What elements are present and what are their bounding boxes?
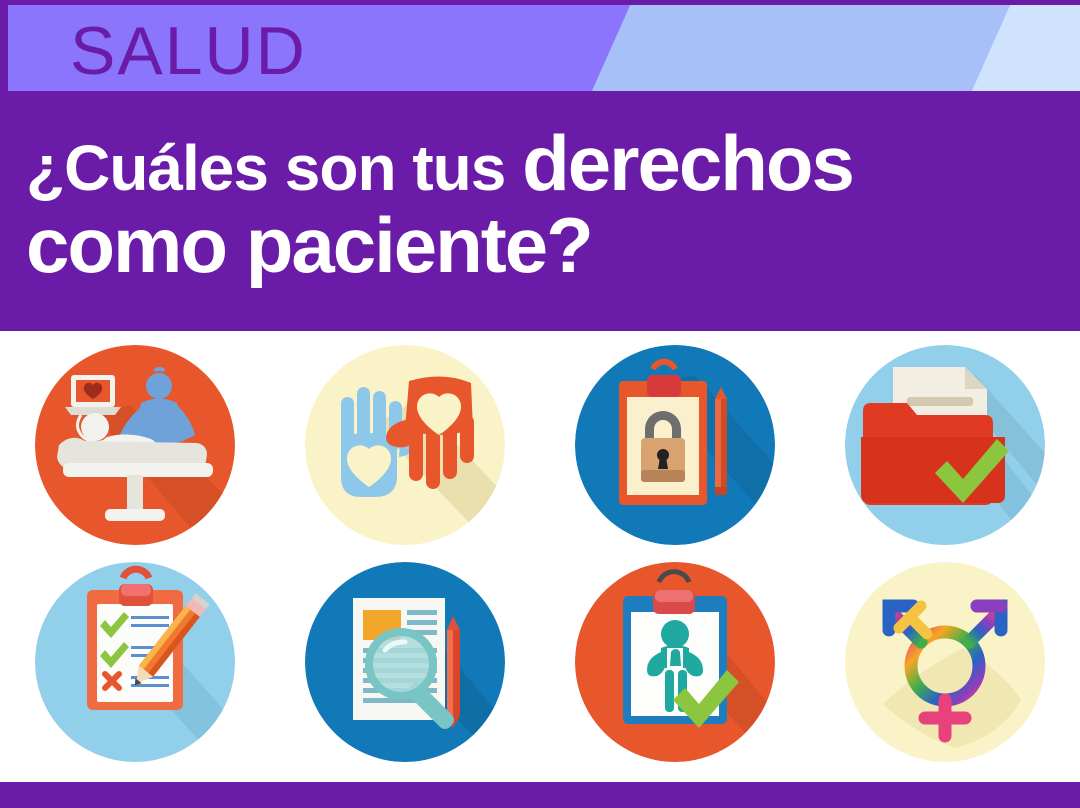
headline-line-2: como paciente? [26, 208, 1062, 284]
icon-cell-4 [810, 336, 1080, 553]
headline-line-1-plain: ¿Cuáles son tus [26, 132, 522, 204]
health-rights-infographic: SALUD ¿Cuáles son tus derechos como paci… [0, 0, 1080, 808]
kicker-banner: SALUD [0, 0, 1080, 96]
icon-cell-8 [810, 553, 1080, 770]
checklist-clipboard-pencil-icon [35, 562, 235, 762]
headline-line-1: ¿Cuáles son tus derechos [26, 126, 1062, 202]
patient-care-icon [35, 345, 235, 545]
headline-block: ¿Cuáles son tus derechos como paciente? [0, 96, 1080, 331]
bottom-accent-bar [0, 782, 1080, 808]
icon-cell-2 [270, 336, 540, 553]
helping-hands-heart-icon [305, 345, 505, 545]
headline-emphasis-word: derechos [522, 119, 853, 207]
patient-consent-clipboard-icon [575, 562, 775, 762]
icon-cell-7 [540, 553, 810, 770]
rights-icon-grid [0, 336, 1080, 770]
icon-cell-5 [0, 553, 270, 770]
folder-records-check-icon [845, 345, 1045, 545]
kicker-banner-inner: SALUD [8, 5, 1080, 91]
icon-cell-6 [270, 553, 540, 770]
icon-cell-1 [0, 336, 270, 553]
icon-cell-3 [540, 336, 810, 553]
kicker-label: SALUD [70, 8, 307, 91]
document-magnifier-review-icon [305, 562, 505, 762]
gender-diversity-symbol-icon [845, 562, 1045, 762]
clipboard-lock-privacy-icon [575, 345, 775, 545]
